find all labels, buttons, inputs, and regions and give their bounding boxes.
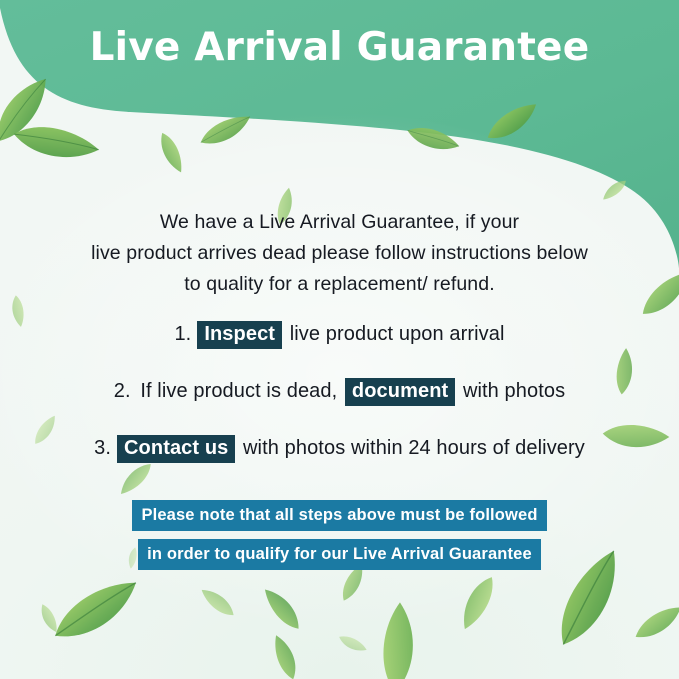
- page-title-container: Live Arrival Guarantee: [0, 26, 679, 70]
- live-arrival-guarantee-poster: Live Arrival Guarantee We have a Live Ar…: [0, 0, 679, 679]
- notice-banner: Please note that all steps above must be…: [0, 500, 679, 578]
- step-number: 1.: [174, 323, 191, 345]
- step-text-after: with photos: [457, 380, 565, 402]
- step-item-1: 1.Inspect live product upon arrival: [0, 320, 679, 349]
- intro-line-2: live product arrives dead please follow …: [0, 238, 679, 269]
- intro-paragraph: We have a Live Arrival Guarantee, if you…: [0, 207, 679, 300]
- step-highlight-document: document: [345, 378, 455, 406]
- step-number: 3.: [94, 437, 111, 459]
- step-item-3: 3.Contact us with photos within 24 hours…: [0, 434, 679, 463]
- step-text-before: If live product is dead,: [135, 380, 343, 402]
- step-number: 2.: [114, 380, 131, 402]
- step-highlight-inspect: Inspect: [197, 321, 282, 349]
- notice-line-1: Please note that all steps above must be…: [132, 500, 546, 531]
- step-item-2: 2. If live product is dead, document wit…: [0, 377, 679, 406]
- instruction-steps: 1.Inspect live product upon arrival 2. I…: [0, 320, 679, 491]
- step-highlight-contact-us: Contact us: [117, 435, 235, 463]
- page-title: Live Arrival Guarantee: [90, 26, 590, 70]
- step-text-after: live product upon arrival: [284, 323, 505, 345]
- intro-line-3: to quality for a replacement/ refund.: [0, 269, 679, 300]
- notice-line-2: in order to qualify for our Live Arrival…: [138, 539, 541, 570]
- step-text-after: with photos within 24 hours of delivery: [237, 437, 585, 459]
- intro-line-1: We have a Live Arrival Guarantee, if you…: [0, 207, 679, 238]
